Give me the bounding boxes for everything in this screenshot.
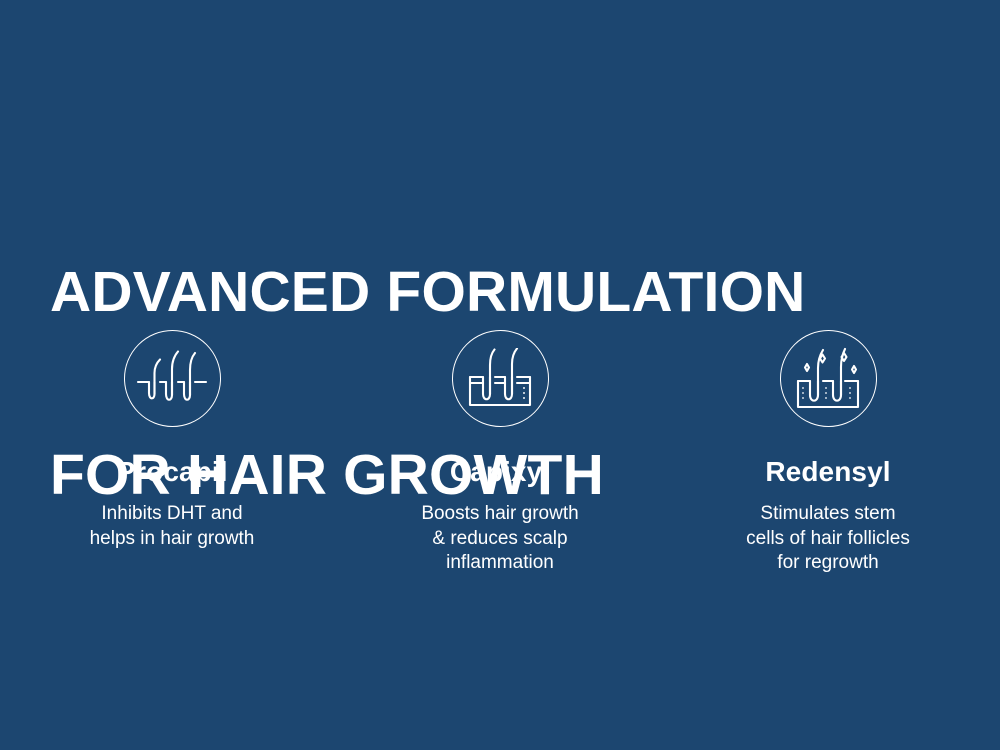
feature-title: Capixyl (450, 456, 550, 488)
feature-column-redensyl: Redensyl Stimulates stem cells of hair f… (664, 330, 992, 576)
stem-cell-sparkle-follicle-icon (780, 330, 877, 427)
feature-columns: Procapil Inhibits DHT and helps in hair … (0, 330, 1000, 576)
feature-description: Boosts hair growth & reduces scalp infla… (421, 502, 578, 576)
feature-column-procapil: Procapil Inhibits DHT and helps in hair … (8, 330, 336, 576)
feature-title: Redensyl (765, 456, 890, 488)
scalp-follicle-cross-section-icon (452, 330, 549, 427)
feature-description: Stimulates stem cells of hair follicles … (746, 502, 910, 576)
feature-description: Inhibits DHT and helps in hair growth (90, 502, 255, 551)
headline-line-1: ADVANCED FORMULATION (50, 262, 806, 323)
hair-follicles-icon (124, 330, 221, 427)
slide-root: ADVANCED FORMULATION FOR HAIR GROWTH (0, 0, 1000, 750)
feature-column-capixyl: Capixyl Boosts hair growth & reduces sca… (336, 330, 664, 576)
feature-title: Procapil (116, 456, 227, 488)
